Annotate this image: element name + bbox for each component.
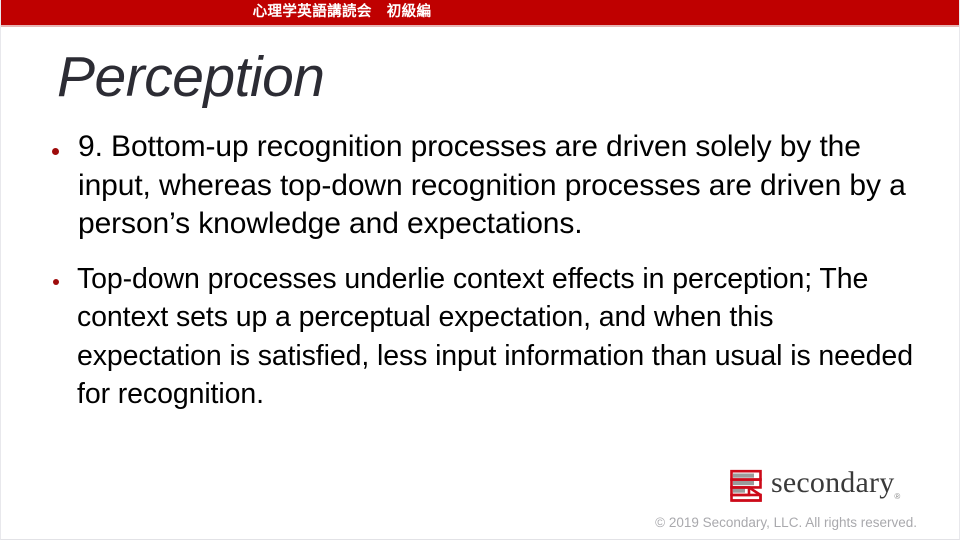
slide-canvas: 心理学英語講読会 初級編 Perception 9. Bottom-up rec… bbox=[0, 0, 960, 540]
brand-logo: secondary® bbox=[727, 466, 901, 506]
brand-wordmark-text: secondary bbox=[771, 466, 894, 499]
list-item: Top-down processes underlie context effe… bbox=[45, 260, 925, 414]
registered-trademark-icon: ® bbox=[894, 492, 900, 501]
bullet-list: 9. Bottom-up recognition processes are d… bbox=[45, 128, 925, 414]
list-item: 9. Bottom-up recognition processes are d… bbox=[45, 128, 925, 244]
list-item-text: 9. Bottom-up recognition processes are d… bbox=[45, 128, 925, 244]
header-banner-underline bbox=[1, 25, 960, 27]
bullet-dot-icon bbox=[52, 148, 59, 155]
copyright-notice: © 2019 Secondary, LLC. All rights reserv… bbox=[655, 514, 917, 532]
bullet-dot-icon bbox=[53, 279, 59, 285]
header-banner-title: 心理学英語講読会 初級編 bbox=[1, 0, 960, 25]
secondary-book-logo-icon bbox=[727, 468, 767, 504]
brand-wordmark: secondary® bbox=[771, 468, 901, 505]
page-title: Perception bbox=[57, 45, 325, 109]
header-banner: 心理学英語講読会 初級編 bbox=[1, 0, 960, 25]
list-item-text: Top-down processes underlie context effe… bbox=[45, 260, 925, 414]
